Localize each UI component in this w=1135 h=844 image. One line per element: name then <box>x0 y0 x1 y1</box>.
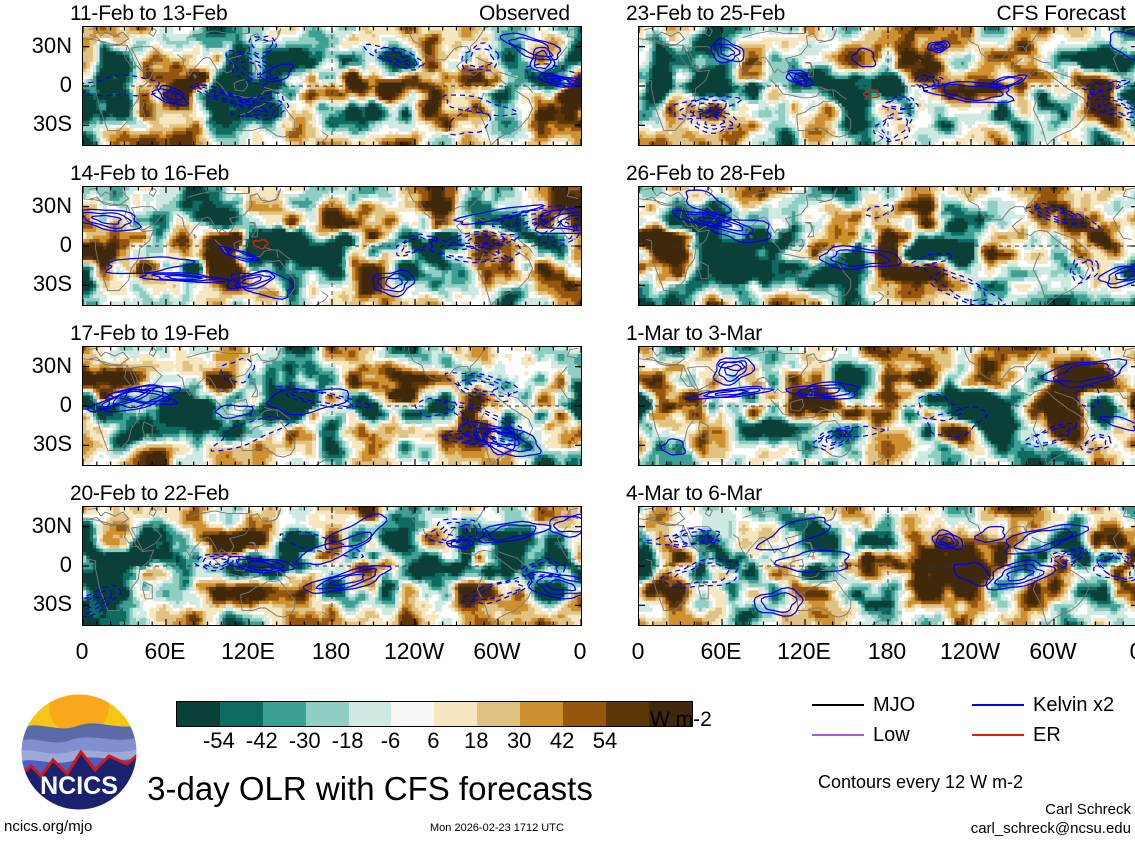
x-tick-label: 120E <box>764 640 844 663</box>
y-tick-label: 0 <box>0 234 72 256</box>
legend-line-swatch <box>812 734 864 736</box>
x-tick-label: 60E <box>681 640 761 663</box>
panel-title: 14-Feb to 16-Feb <box>70 163 229 184</box>
x-tick-label: 60E <box>125 640 205 663</box>
legend-item-mjo: MJO <box>812 695 972 715</box>
legend-item-kelvin-x2: Kelvin x2 <box>972 695 1132 715</box>
panel-title: 23-Feb to 25-Feb <box>626 3 785 24</box>
legend-line-swatch <box>972 704 1024 706</box>
x-tick-label: 120E <box>208 640 288 663</box>
legend-line-swatch <box>812 704 864 706</box>
colorbar-swatch <box>563 702 606 726</box>
panel-title: 11-Feb to 13-Feb <box>70 3 228 24</box>
colorbar-swatch <box>220 702 263 726</box>
colorbar-units-label: W m-2 <box>650 708 712 732</box>
y-tick-label: 30N <box>0 35 72 57</box>
y-tick-label: 30N <box>0 195 72 217</box>
timestamp: Mon 2026-02-23 1712 UTC <box>430 822 564 834</box>
y-tick-label: 0 <box>0 554 72 576</box>
legend-row: MJOKelvin x2 <box>812 690 1132 720</box>
y-tick-label: 30S <box>0 593 72 615</box>
legend-row: LowER <box>812 720 1132 750</box>
colorbar-swatch <box>477 702 520 726</box>
colorbar-swatch <box>391 702 434 726</box>
colorbar-swatch <box>520 702 563 726</box>
panel-title: 26-Feb to 28-Feb <box>626 163 785 184</box>
panel-title: 17-Feb to 19-Feb <box>70 323 229 344</box>
map-panel-p8 <box>638 506 1135 626</box>
colorbar-swatch <box>349 702 392 726</box>
colorbar <box>176 701 693 727</box>
legend-label: MJO <box>873 695 915 715</box>
colorbar-swatch <box>306 702 349 726</box>
x-tick-label: 180 <box>291 640 371 663</box>
x-tick-label: 120W <box>374 640 454 663</box>
y-tick-label: 30S <box>0 433 72 455</box>
colorbar-swatch <box>606 702 649 726</box>
x-tick-label: 0 <box>1096 640 1135 663</box>
contour-interval-note: Contours every 12 W m-2 <box>818 772 1023 793</box>
map-panel-p1 <box>82 26 582 146</box>
legend-item-low: Low <box>812 725 972 745</box>
colorbar-tick-label: 54 <box>575 730 635 752</box>
map-panel-p3 <box>82 346 582 466</box>
x-tick-label: 0 <box>42 640 122 663</box>
legend-item-er: ER <box>972 725 1132 745</box>
map-panel-p5 <box>638 26 1135 146</box>
y-tick-label: 30S <box>0 273 72 295</box>
map-panel-p2 <box>82 186 582 306</box>
legend-label: Low <box>873 725 910 745</box>
contour-legend: MJOKelvin x2LowER <box>812 690 1132 750</box>
colorbar-swatch <box>177 702 220 726</box>
x-tick-label: 0 <box>598 640 678 663</box>
map-panel-p4 <box>82 506 582 626</box>
legend-line-swatch <box>972 734 1024 736</box>
colorbar-swatch <box>434 702 477 726</box>
panel-title: 20-Feb to 22-Feb <box>70 483 229 504</box>
main-title: 3-day OLR with CFS forecasts <box>0 772 740 805</box>
author-email[interactable]: carl_schreck@ncsu.edu <box>835 820 1131 837</box>
author-name: Carl Schreck <box>835 801 1131 818</box>
panel-title: 4-Mar to 6-Mar <box>626 483 762 504</box>
y-tick-label: 30S <box>0 113 72 135</box>
x-tick-label: 180 <box>847 640 927 663</box>
y-tick-label: 30N <box>0 355 72 377</box>
legend-label: Kelvin x2 <box>1033 695 1114 715</box>
x-tick-label: 60W <box>457 640 537 663</box>
panel-title: 1-Mar to 3-Mar <box>626 323 762 344</box>
x-tick-label: 120W <box>930 640 1010 663</box>
colorbar-swatch <box>263 702 306 726</box>
y-tick-label: 0 <box>0 74 72 96</box>
map-panel-p6 <box>638 186 1135 306</box>
y-tick-label: 0 <box>0 394 72 416</box>
legend-label: ER <box>1033 725 1061 745</box>
map-panel-p7 <box>638 346 1135 466</box>
site-url[interactable]: ncics.org/mjo <box>4 818 92 835</box>
x-tick-label: 60W <box>1013 640 1093 663</box>
y-tick-label: 30N <box>0 515 72 537</box>
panel-group-label: Observed <box>479 3 570 24</box>
panel-group-label: CFS Forecast <box>996 3 1126 24</box>
